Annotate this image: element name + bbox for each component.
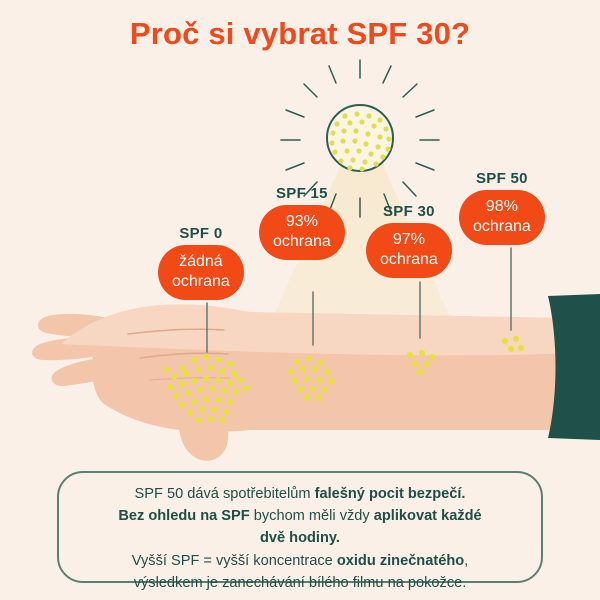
green-sleeve (548, 294, 600, 440)
footnote-bold: aplikovat každé (374, 508, 482, 524)
spf-level-label: SPF 30 (366, 203, 452, 220)
footnote-bold: dvě hodiny. (260, 530, 340, 546)
footnote-text: , (464, 553, 468, 569)
footnote-text: Vyšší SPF = vyšší koncentrace (132, 553, 337, 569)
spf-level-label: SPF 15 (259, 185, 345, 202)
footnote-text: bychom měli vždy (250, 508, 374, 524)
footnote-text: výsledkem je zanechávání bílého filmu na… (134, 575, 467, 591)
footnote-bold: oxidu zinečnatého (337, 553, 464, 569)
spf-level-label: SPF 50 (459, 170, 545, 187)
spf-protection-value: 97% (380, 230, 438, 250)
spf-protection-word: ochrana (273, 232, 331, 252)
spf-level-label: SPF 0 (158, 225, 244, 242)
footnote-text: SPF 50 dává spotřebitelům (135, 486, 315, 502)
spf-badge-spf-30[interactable]: SPF 30 97% ochrana (366, 203, 452, 278)
spf-protection-bubble: 93% ochrana (259, 205, 345, 260)
footnote-line-4: Vyšší SPF = vyšší koncentrace oxidu zine… (73, 550, 527, 572)
spf-protection-word: ochrana (380, 250, 438, 270)
infographic-canvas: Proč si vybrat SPF 30? (0, 0, 600, 600)
footnote-bold: Bez ohledu na SPF (118, 508, 249, 524)
spf-protection-bubble: 97% ochrana (366, 223, 452, 278)
spf-protection-word: ochrana (172, 272, 230, 292)
footnote-line-1: SPF 50 dává spotřebitelům falešný pocit … (73, 483, 527, 505)
footnote-bold: falešný pocit bezpečí. (315, 486, 466, 502)
footnote-line-3: dvě hodiny. (73, 527, 527, 549)
sun-disc (327, 105, 393, 171)
spf-badge-spf-15[interactable]: SPF 15 93% ochrana (259, 185, 345, 260)
spf-protection-value: žádná (172, 252, 230, 272)
spf-badge-spf-50[interactable]: SPF 50 98% ochrana (459, 170, 545, 245)
footnote-line-5: výsledkem je zanechávání bílého filmu na… (73, 572, 527, 594)
spf-protection-value: 98% (473, 197, 531, 217)
spf-protection-bubble: 98% ochrana (459, 190, 545, 245)
spf-protection-word: ochrana (473, 217, 531, 237)
spf-protection-value: 93% (273, 212, 331, 232)
spf-badge-spf-0[interactable]: SPF 0 žádná ochrana (158, 225, 244, 300)
footnote-line-2: Bez ohledu na SPF bychom měli vždy aplik… (73, 505, 527, 527)
footnote-box: SPF 50 dává spotřebitelům falešný pocit … (57, 471, 543, 583)
spf-protection-bubble: žádná ochrana (158, 245, 244, 300)
